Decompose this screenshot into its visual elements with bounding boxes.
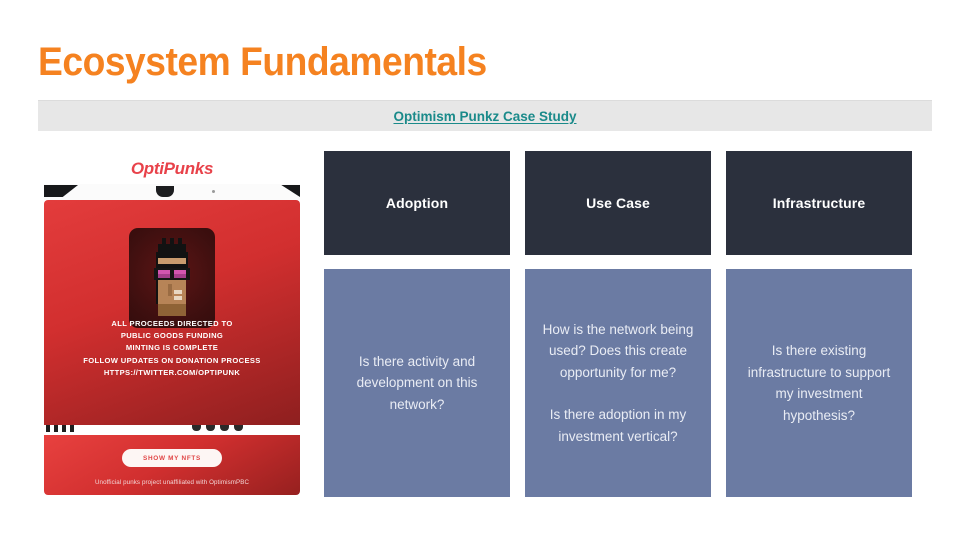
strip-bar-icon (54, 425, 58, 432)
strip-bar-icon (62, 425, 66, 432)
device-bezel (44, 184, 300, 200)
device-camera-dot-icon (212, 190, 215, 193)
show-my-nfts-button[interactable]: SHOW MY NFTS (122, 449, 222, 467)
question-paragraph: How is the network being used? Does this… (537, 319, 699, 384)
device-notch-icon (156, 186, 174, 197)
case-study-link[interactable]: Optimism Punkz Case Study (393, 109, 576, 124)
optipunks-hero-panel: ALL PROCEEDS DIRECTED TO PUBLIC GOODS FU… (44, 200, 300, 425)
question-paragraph: Is there activity and development on thi… (336, 351, 498, 416)
proceeds-text-block: ALL PROCEEDS DIRECTED TO PUBLIC GOODS FU… (44, 318, 300, 379)
column-infrastructure: Infrastructure Is there existing infrast… (726, 151, 912, 497)
question-card-use-case: How is the network being used? Does this… (525, 269, 711, 497)
optipunks-footer-panel: SHOW MY NFTS Unofficial punks project un… (44, 435, 300, 495)
strip-blob-icon (234, 425, 243, 431)
question-card-adoption: Is there activity and development on thi… (324, 269, 510, 497)
column-adoption: Adoption Is there activity and developme… (324, 151, 510, 497)
heading-card-infrastructure: Infrastructure (726, 151, 912, 255)
bezel-corner-left-icon (44, 185, 78, 197)
strip-bar-icon (70, 425, 74, 432)
question-card-infrastructure: Is there existing infrastructure to supp… (726, 269, 912, 497)
proceeds-line: FOLLOW UPDATES ON DONATION PROCESS (44, 355, 300, 367)
optipunks-screenshot: OptiPunks (44, 152, 300, 497)
pixel-punk-icon (144, 238, 200, 316)
screenshot-seam-strip (44, 425, 300, 435)
fundamentals-grid: Adoption Is there activity and developme… (324, 151, 934, 497)
case-study-link-bar: Optimism Punkz Case Study (38, 100, 932, 131)
strip-blob-icon (220, 425, 229, 431)
proceeds-line: ALL PROCEEDS DIRECTED TO (44, 318, 300, 330)
page-title: Ecosystem Fundamentals (38, 38, 487, 86)
strip-blob-icon (206, 425, 215, 431)
column-use-case: Use Case How is the network being used? … (525, 151, 711, 497)
punk-avatar-tile (129, 228, 215, 328)
heading-card-adoption: Adoption (324, 151, 510, 255)
strip-blob-icon (192, 425, 201, 431)
heading-card-use-case: Use Case (525, 151, 711, 255)
optipunks-brand-label: OptiPunks (44, 152, 300, 184)
question-paragraph: Is there adoption in my investment verti… (537, 404, 699, 447)
strip-bar-icon (46, 425, 50, 432)
proceeds-line: PUBLIC GOODS FUNDING (44, 330, 300, 342)
disclaimer-text: Unofficial punks project unaffiliated wi… (44, 479, 300, 486)
bezel-corner-right-icon (266, 185, 300, 197)
proceeds-line: MINTING IS COMPLETE (44, 342, 300, 354)
question-paragraph: Is there existing infrastructure to supp… (738, 340, 900, 426)
proceeds-line: HTTPS://TWITTER.COM/OPTIPUNK (44, 367, 300, 379)
